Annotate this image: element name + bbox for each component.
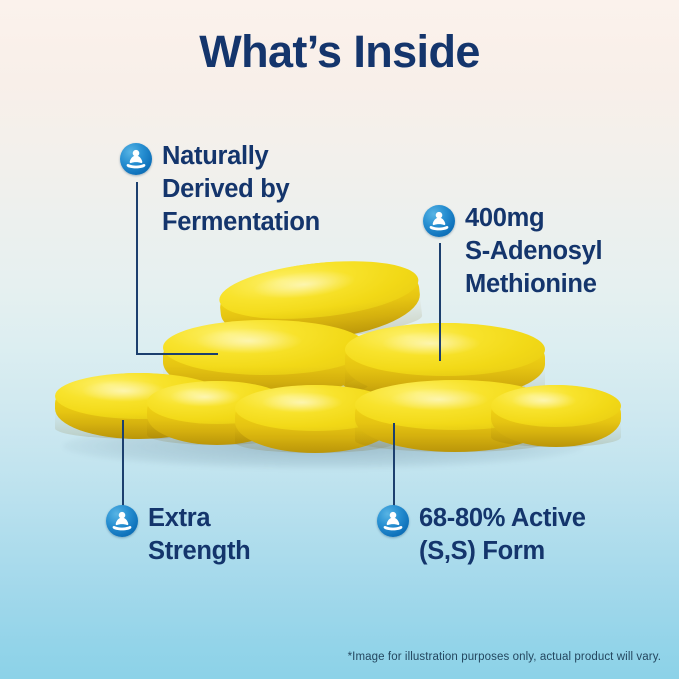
tablet-front-far-right	[491, 385, 621, 447]
disclaimer-footnote: *Image for illustration purposes only, a…	[348, 651, 661, 663]
meditating-person-icon	[423, 205, 455, 237]
infographic-canvas: What’s Inside	[0, 0, 679, 679]
meditating-person-icon	[120, 143, 152, 175]
leader-line-active-form-vertical	[393, 423, 395, 512]
callout-label-naturally-derived: Naturally Derived by Fermentation	[162, 140, 320, 239]
leader-line-naturally-derived-horizontal	[136, 353, 218, 355]
meditating-person-icon	[377, 505, 409, 537]
callout-dosage[interactable]: 400mg S-Adenosyl Methionine	[423, 205, 602, 301]
meditating-person-icon	[106, 505, 138, 537]
callout-label-dosage: 400mg S-Adenosyl Methionine	[465, 202, 602, 301]
callout-extra-strength[interactable]: Extra Strength	[106, 505, 250, 568]
callout-active-form[interactable]: 68-80% Active (S,S) Form	[377, 505, 586, 568]
leader-line-extra-strength-vertical	[122, 420, 124, 512]
callout-label-active-form: 68-80% Active (S,S) Form	[419, 502, 586, 568]
callout-naturally-derived[interactable]: Naturally Derived by Fermentation	[120, 143, 320, 239]
page-title: What’s Inside	[0, 26, 679, 78]
callout-label-extra-strength: Extra Strength	[148, 502, 250, 568]
